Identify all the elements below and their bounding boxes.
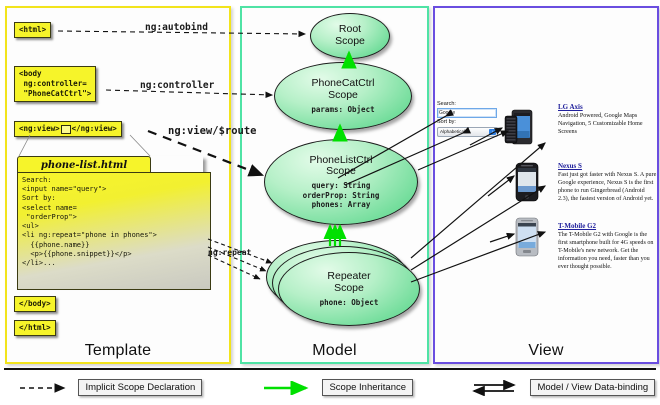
legend-label-1: Scope Inheritance	[322, 379, 413, 396]
code-box-ngview: <ng:view></ng:view>	[14, 121, 122, 137]
search-label: Search:	[437, 101, 499, 108]
panel-view-label: View	[435, 342, 657, 360]
code-box-body-close: </body>	[14, 296, 56, 312]
partial-template-card: phone-list.html Search: <input name="que…	[17, 156, 203, 284]
dashed-arrow-icon	[18, 381, 70, 395]
scope-repeater-title: Repeater Scope	[327, 271, 370, 295]
phone-desc-1: Fast just got faster with Nexus S. A pur…	[558, 172, 657, 204]
label-ng-view-route: ng:view/$route	[168, 125, 257, 137]
legend-label-0: Implicit Scope Declaration	[78, 379, 202, 396]
ngview-open-tag: <ng:view>	[19, 124, 60, 133]
ngview-placeholder-box	[61, 125, 71, 134]
diagram-canvas: Template Model View <html> <body ng:cont…	[0, 0, 660, 405]
sort-select-value: Alphabetical	[440, 129, 465, 134]
scope-repeater: Repeater Scope phone: Object	[278, 252, 420, 326]
scope-repeater-props: phone: Object	[320, 298, 379, 307]
scope-phonelistctrl: PhoneListCtrl Scope query: String orderP…	[264, 139, 418, 225]
phone-link-1[interactable]: Nexus S	[558, 162, 657, 170]
scope-phonecatctrl-title: PhoneCatCtrl Scope	[311, 78, 374, 102]
label-ng-controller: ng:controller	[140, 80, 214, 91]
phone-desc-2: The T-Mobile G2 with Google is the first…	[558, 232, 657, 272]
panel-template-label: Template	[7, 342, 229, 360]
solid-arrow-icon	[262, 381, 314, 395]
phone-link-0[interactable]: LG Axis	[558, 103, 657, 111]
label-ng-repeat: ng:repeat	[208, 248, 251, 257]
code-box-html-close: </html>	[14, 320, 56, 336]
panel-model-label: Model	[242, 342, 427, 360]
legend-label-2: Model / View Data-binding	[530, 379, 655, 396]
search-input[interactable]: Google	[437, 108, 497, 118]
phone-link-2[interactable]: T-Mobile G2	[558, 222, 657, 230]
double-arrow-icon	[472, 380, 522, 396]
legend-divider	[4, 368, 656, 370]
scope-phonecatctrl-props: params: Object	[311, 105, 374, 114]
sort-select[interactable]: Alphabetical ↕	[437, 127, 498, 137]
code-box-body-open: <body ng:controller= "PhoneCatCtrl">	[14, 66, 96, 102]
legend-item-1: Scope Inheritance	[262, 379, 413, 395]
scope-phonelistctrl-props: query: String orderProp: String phones: …	[303, 181, 380, 209]
phone-desc-0: Android Powered, Google Maps Navigation,…	[558, 113, 657, 137]
phone-entry-0: LG Axis Android Powered, Google Maps Nav…	[558, 103, 657, 137]
code-box-html-open: <html>	[14, 22, 51, 38]
phone-entry-1: Nexus S Fast just got faster with Nexus …	[558, 162, 657, 204]
label-ng-autobind: ng:autobind	[145, 22, 208, 33]
sort-label: Sort by:	[437, 119, 499, 126]
view-search-form: Search: Google Sort by: Alphabetical ↕	[437, 101, 499, 137]
chevron-updown-icon: ↕	[489, 129, 496, 135]
legend-item-2: Model / View Data-binding	[472, 379, 655, 395]
phone-entry-2: T-Mobile G2 The T-Mobile G2 with Google …	[558, 222, 657, 272]
scope-phonecatctrl: PhoneCatCtrl Scope params: Object	[274, 62, 412, 130]
scope-root: Root Scope	[310, 13, 390, 59]
ngview-close-tag: </ng:view>	[72, 124, 117, 133]
scope-phonelistctrl-title: PhoneListCtrl Scope	[309, 155, 372, 179]
legend-item-0: Implicit Scope Declaration	[18, 379, 202, 395]
scope-root-title: Root Scope	[335, 24, 365, 48]
partial-template-code: Search: <input name="query"> Sort by: <s…	[17, 172, 211, 290]
